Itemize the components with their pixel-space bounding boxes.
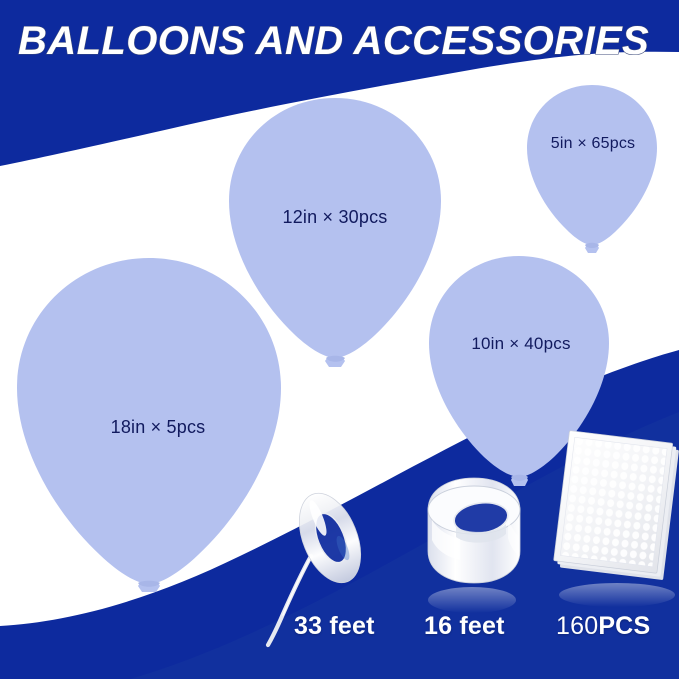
product-infographic: BALLOONS AND ACCESSORIES — [0, 0, 679, 679]
page-title: BALLOONS AND ACCESSORIES — [18, 20, 649, 62]
balloon-5in-label: 5in × 65pcs — [512, 135, 674, 153]
balloon-12in-label: 12in × 30pcs — [235, 207, 435, 228]
balloon-10in-label: 10in × 40pcs — [432, 334, 610, 354]
glue-dots-count: 160 — [556, 612, 598, 640]
balloon-18in-label: 18in × 5pcs — [38, 417, 278, 438]
tape-roll-caption: 16 feet — [424, 612, 505, 641]
glue-dots-caption: 160PCS — [556, 612, 650, 641]
glue-dots-unit: PCS — [598, 612, 650, 640]
ribbon-roll-caption: 33 feet — [294, 612, 375, 641]
